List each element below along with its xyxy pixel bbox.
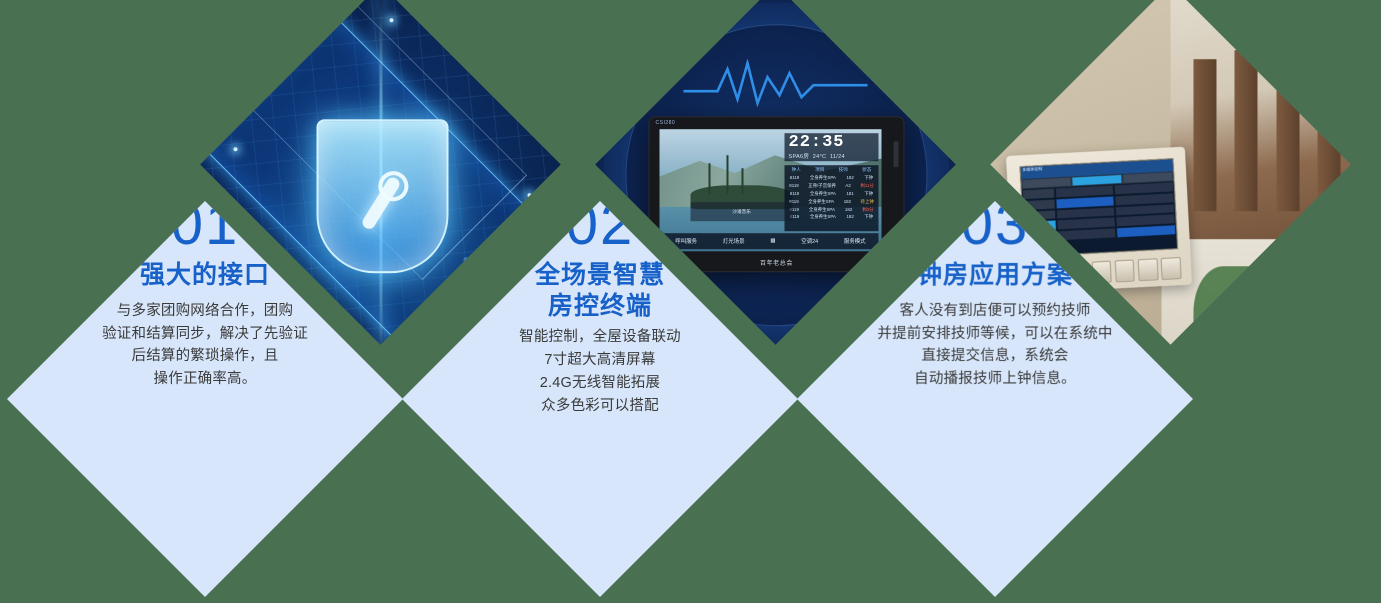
cell: 剩11分 xyxy=(860,183,873,189)
hardware-button[interactable] xyxy=(1115,259,1135,282)
cell: A2 xyxy=(845,183,850,189)
service-mode-button[interactable]: 服务模式 xyxy=(844,236,866,244)
wood-slat xyxy=(1194,59,1217,211)
tablet-device: CSI280 22:35 SPA6房 24°C xyxy=(649,115,905,271)
cell: 182 xyxy=(844,198,851,204)
player-label: 沙滩音乐 xyxy=(732,208,750,214)
side-key[interactable] xyxy=(1023,199,1055,209)
menu-column-right[interactable] xyxy=(1114,181,1176,237)
call-service-button[interactable]: 呼叫服务 xyxy=(675,236,697,244)
clock-meta: SPA6房 24°C 11/24 xyxy=(789,151,845,159)
cell: 全身养生SPA xyxy=(810,175,836,181)
cell: 全身养生SPA xyxy=(810,191,836,197)
wood-slat xyxy=(1276,40,1299,210)
tablet-side-button[interactable] xyxy=(894,140,899,166)
plant-decoration xyxy=(1327,243,1351,321)
cell: 182 xyxy=(846,175,853,181)
cell: 8119 xyxy=(790,175,799,181)
cell: 8119 xyxy=(789,183,798,189)
spark-decoration xyxy=(233,146,237,150)
panel-2-title: 全场景智慧 房控终端 xyxy=(535,260,665,321)
list-header: 钟人 项目 技师 状态 xyxy=(785,164,879,174)
side-key[interactable] xyxy=(1022,188,1054,198)
service-list-widget[interactable]: 钟人 项目 技师 状态 8119 全身养生SPA 182 下钟 xyxy=(785,164,879,230)
table-row[interactable]: 8119 正骨/子宫保养 A2 剩11分 xyxy=(785,182,879,190)
table-row[interactable]: 8119 全身养生SPA 182 下钟 xyxy=(785,213,879,221)
table-row[interactable]: 8119 全身养生SPA 181 下钟 xyxy=(785,190,879,198)
tablet-screen[interactable]: 22:35 SPA6房 24°C 11/24 钟人 项目 技 xyxy=(660,128,882,250)
table-row[interactable]: 8119 全身养生SPA 182 下钟 xyxy=(785,174,879,182)
table-row[interactable]: 8119 全身养生SPA 182 剩3分 xyxy=(785,205,879,213)
side-key-selected[interactable] xyxy=(1024,220,1056,230)
hardware-button[interactable] xyxy=(1161,257,1181,280)
tablet-brand-label: CSI280 xyxy=(656,119,676,125)
panel-3-title: 钟房应用方案 xyxy=(917,260,1073,291)
clock-widget: 22:35 SPA6房 24°C 11/24 xyxy=(785,132,879,160)
clock-temp: 24°C xyxy=(813,153,827,159)
list-item-selected[interactable] xyxy=(1056,196,1114,208)
cell: 182 xyxy=(846,214,853,220)
bottom-control-bar[interactable]: 呼叫服务 灯光场景 ▦ 空调24 服务模式 xyxy=(663,232,879,248)
apps-grid-icon[interactable]: ▦ xyxy=(770,237,775,243)
list-item[interactable] xyxy=(1058,217,1116,229)
panel-1-title: 强大的接口 xyxy=(140,260,270,291)
chip-decoration xyxy=(206,36,222,46)
cell: 待上钟 xyxy=(861,198,874,204)
list-item[interactable] xyxy=(1115,182,1173,194)
cell: 全身养生SPA xyxy=(809,206,835,212)
hardware-button[interactable] xyxy=(1092,261,1112,284)
col-header: 技师 xyxy=(839,166,848,172)
cell: 剩3分 xyxy=(862,206,873,212)
list-item[interactable] xyxy=(1116,203,1174,215)
cell: 182 xyxy=(845,206,852,212)
tree-decoration xyxy=(726,155,728,194)
cell: 正骨/子宫保养 xyxy=(808,183,836,189)
clock-date: 11/24 xyxy=(830,153,845,159)
plant-decoration xyxy=(1258,257,1336,345)
wood-slat xyxy=(1235,50,1258,211)
col-header: 项目 xyxy=(815,166,824,172)
panel-3-description: 客人没有到店便可以预约技师 并提前安排技师等候，可以在系统中 直接提交信息，系统… xyxy=(877,300,1112,392)
col-header: 钟人 xyxy=(792,166,801,172)
clock-room: SPA6房 xyxy=(789,153,810,159)
panel-2-description: 智能控制，全屋设备联动 7寸超大高清屏幕 2.4G无线智能拓展 众多色彩可以搭配 xyxy=(519,326,681,418)
plant-decoration xyxy=(1194,266,1254,345)
control-panel-screen[interactable]: 多媒体控制 xyxy=(1019,158,1178,257)
list-item[interactable] xyxy=(1117,214,1175,226)
cell: 8119 xyxy=(790,191,799,197)
wood-slat xyxy=(1318,45,1341,211)
hardware-button[interactable] xyxy=(1138,258,1158,281)
panel-1-description: 与多家团购网络合作，团购 验证和结算同步，解决了先验证 后结算的繁琐操作，且 操… xyxy=(102,300,308,392)
aircon-button[interactable]: 空调24 xyxy=(801,236,818,244)
tablet-footer-brand: 百年老总会 xyxy=(650,257,904,266)
list-item[interactable] xyxy=(1057,207,1115,219)
list-item[interactable] xyxy=(1058,228,1116,240)
cell: 181 xyxy=(846,191,853,197)
chip-decoration xyxy=(463,257,477,271)
panel-2-number: 02 xyxy=(566,201,635,254)
light-scene-button[interactable]: 灯光场景 xyxy=(723,236,745,244)
music-player-widget[interactable]: 沙滩音乐 xyxy=(691,201,793,221)
panel-1-number: 01 xyxy=(171,201,240,254)
menu-column-left[interactable] xyxy=(1055,184,1117,240)
list-item[interactable] xyxy=(1056,185,1114,197)
clock-time: 22:35 xyxy=(789,133,845,150)
feature-diamond-grid: CSI280 22:35 SPA6房 24°C xyxy=(0,0,1381,603)
list-item-selected[interactable] xyxy=(1117,225,1175,237)
chip-decoration xyxy=(500,73,520,85)
pulse-wave-icon xyxy=(684,59,868,107)
tree-decoration xyxy=(742,167,744,194)
side-key[interactable] xyxy=(1024,210,1056,220)
list-item[interactable] xyxy=(1116,193,1174,205)
cell: 下钟 xyxy=(864,191,873,197)
col-header: 状态 xyxy=(862,166,871,172)
cell: 下钟 xyxy=(864,175,873,181)
cell: 下钟 xyxy=(864,214,873,220)
tab-room-settings[interactable] xyxy=(1123,171,1172,182)
cell: 全身养生SPA xyxy=(810,214,836,220)
panel-3-number: 03 xyxy=(961,201,1030,254)
tree-decoration xyxy=(708,162,710,194)
table-row[interactable]: 8119 全身养生SPA 182 待上钟 xyxy=(785,197,879,205)
cell: 全身养生SPA xyxy=(808,198,834,204)
chip-decoration xyxy=(344,0,356,7)
